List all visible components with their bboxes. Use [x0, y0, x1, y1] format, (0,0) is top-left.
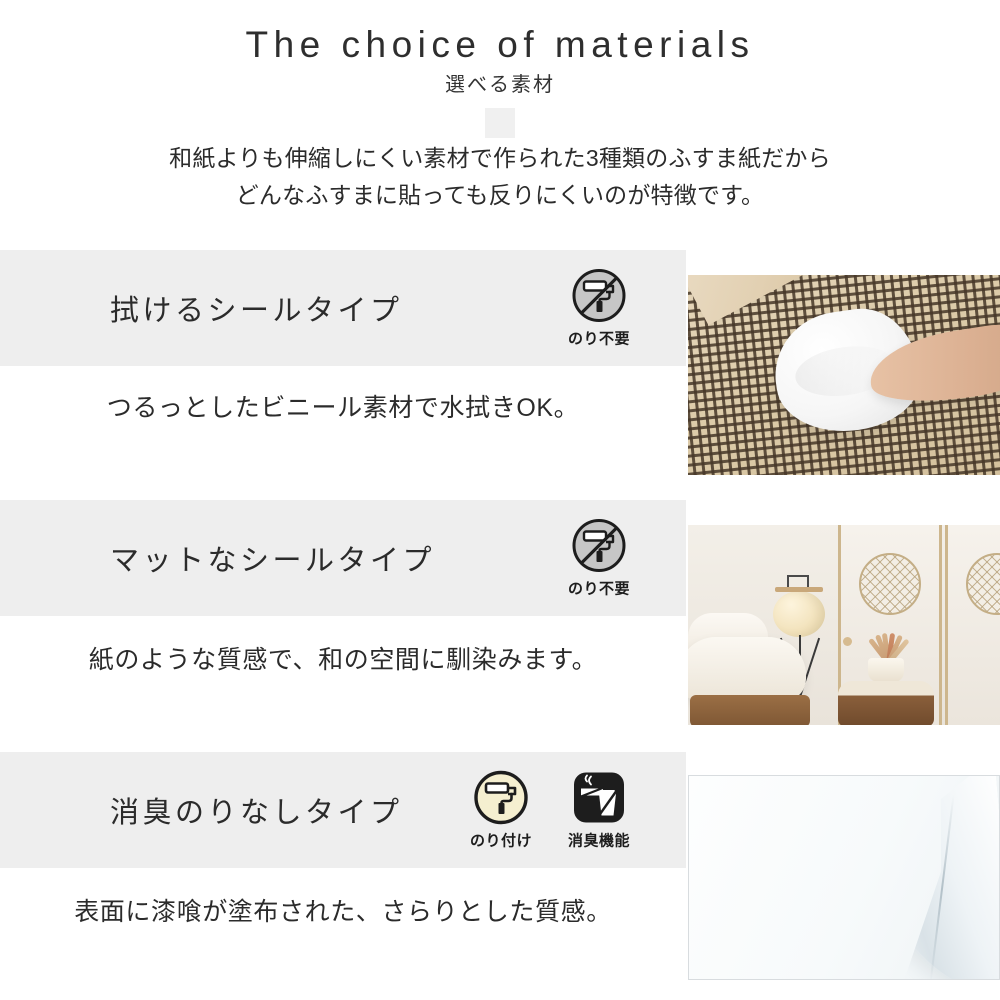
badge-glue-required: のり付け [462, 770, 540, 851]
section-1-description: つるっとしたビニール素材で水拭きOK。 [0, 388, 686, 424]
badge-deodorize: 消臭機能 [560, 770, 638, 851]
section-3-description: 表面に漆喰が塗布された、さらりとした質感。 [0, 892, 686, 928]
towel-wiping-rattan-photo [688, 275, 1000, 475]
section-2-title: マットなシールタイプ [110, 537, 435, 579]
page-title: The choice of materials [0, 24, 1000, 66]
badge-no-glue: のり不要 [560, 518, 638, 599]
intro-paragraph: 和紙よりも伸縮しにくい素材で作られた3種類のふすま紙だから どんなふすまに貼って… [0, 140, 1000, 215]
badge-no-glue-caption: のり不要 [568, 328, 630, 349]
badge-no-glue-caption: のり不要 [568, 578, 630, 599]
section-2-badges: のり不要 [560, 518, 638, 599]
badge-deodorize-caption: 消臭機能 [568, 830, 630, 851]
section-1-title: 拭けるシールタイプ [110, 287, 403, 329]
section-2-band: マットなシールタイプ [0, 500, 686, 616]
deodorize-icon [571, 770, 627, 826]
section-2-description: 紙のような質感で、和の空間に馴染みます。 [0, 640, 686, 676]
japanese-interior-photo [688, 525, 1000, 725]
intro-line-2: どんなふすまに貼っても反りにくいのが特徴です。 [0, 177, 1000, 214]
section-3-band: 消臭のりなしタイプ のり付け [0, 752, 686, 868]
intro-line-1: 和紙よりも伸縮しにくい素材で作られた3種類のふすま紙だから [0, 140, 1000, 177]
section-1-band: 拭けるシールタイプ [0, 250, 686, 366]
page-root: The choice of materials 選べる素材 和紙よりも伸縮しにく… [0, 0, 1000, 1000]
badge-no-glue: のり不要 [560, 268, 638, 349]
section-3-badges: のり付け [462, 770, 638, 851]
no-glue-roller-icon [571, 518, 627, 574]
decorative-square [485, 108, 515, 138]
no-glue-roller-icon [571, 268, 627, 324]
section-1-badges: のり不要 [560, 268, 638, 349]
badge-glue-required-caption: のり付け [470, 830, 532, 851]
glue-roller-icon [473, 770, 529, 826]
page-subtitle: 選べる素材 [0, 68, 1000, 97]
white-curling-sheet-photo [688, 775, 1000, 980]
page-header: The choice of materials 選べる素材 和紙よりも伸縮しにく… [0, 0, 1000, 232]
section-3-title: 消臭のりなしタイプ [110, 789, 403, 831]
